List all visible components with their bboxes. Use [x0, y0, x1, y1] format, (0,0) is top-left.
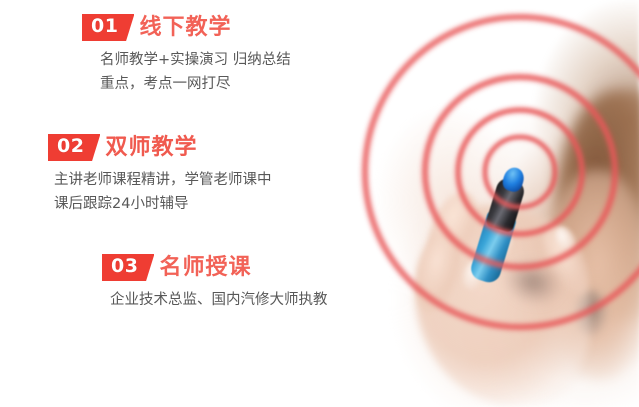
feature-title: 线下教学: [139, 15, 231, 41]
feature-number: 02: [57, 135, 84, 157]
feature-number: 03: [111, 255, 138, 277]
feature-title: 名师授课: [159, 255, 251, 281]
feature-description-line: 重点，考点一网打尽: [100, 72, 291, 96]
feature-title: 双师教学: [105, 135, 197, 161]
feature-description-line: 主讲老师课程精讲，学管老师课中: [54, 168, 272, 192]
feature-description-line: 课后跟踪24小时辅导: [54, 192, 272, 216]
feature-description-line: 名师教学+实操演习 归纳总结: [100, 48, 291, 72]
feature-heading: 03 名师授课: [102, 254, 328, 281]
feature-item-01: 01 线下教学 名师教学+实操演习 归纳总结 重点，考点一网打尽: [82, 14, 291, 96]
feature-number-badge: 01: [82, 14, 134, 41]
feature-item-02: 02 双师教学 主讲老师课程精讲，学管老师课中 课后跟踪24小时辅导: [48, 134, 272, 216]
feature-item-03: 03 名师授课 企业技术总监、国内汽修大师执教: [102, 254, 328, 312]
feature-number: 01: [91, 15, 118, 37]
feature-heading: 01 线下教学: [82, 14, 291, 41]
feature-number-badge: 03: [102, 254, 154, 281]
feature-description-line: 企业技术总监、国内汽修大师执教: [110, 288, 328, 312]
feature-list: 01 线下教学 名师教学+实操演习 归纳总结 重点，考点一网打尽 02 双师教学…: [0, 0, 420, 407]
feature-heading: 02 双师教学: [48, 134, 272, 161]
feature-number-badge: 02: [48, 134, 100, 161]
promo-banner: 01 线下教学 名师教学+实操演习 归纳总结 重点，考点一网打尽 02 双师教学…: [0, 0, 639, 407]
